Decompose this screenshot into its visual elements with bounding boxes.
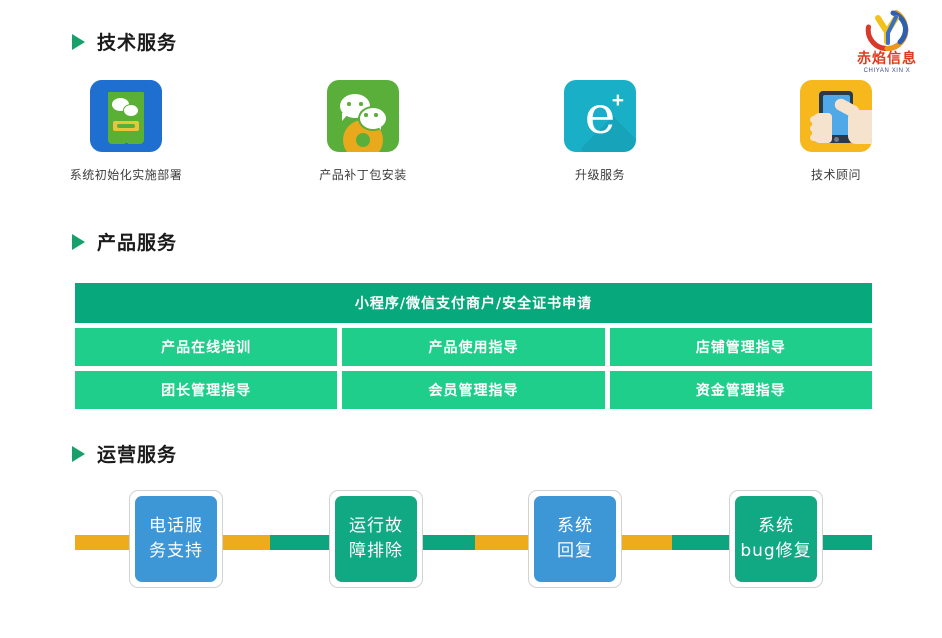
brand-name-cn: 赤焰信息: [844, 52, 930, 66]
flow-node-line1-0: 电话服: [149, 516, 203, 536]
tech-service-label-3: 技术顾问: [766, 166, 906, 183]
table-row: 团长管理指导 会员管理指导 资金管理指导: [75, 371, 872, 409]
section-title-ops: 运营服务: [97, 440, 177, 467]
flow-node-3[interactable]: 系统 bug修复: [729, 490, 823, 588]
wechat-gear-patch-icon: [327, 80, 399, 152]
table-cell[interactable]: 会员管理指导: [342, 371, 604, 409]
tech-service-label-0: 系统初始化实施部署: [56, 166, 196, 183]
tech-service-item-0[interactable]: 系统初始化实施部署: [56, 80, 196, 183]
tech-service-item-2[interactable]: e + 升级服务: [530, 80, 670, 183]
flow-node-body-0: 电话服 务支持: [135, 496, 217, 582]
section-heading-product: 产品服务: [72, 228, 177, 255]
section-title-tech: 技术服务: [97, 28, 177, 55]
table-cell[interactable]: 团长管理指导: [75, 371, 337, 409]
e-plus-upgrade-icon: e +: [564, 80, 636, 152]
tech-service-item-3[interactable]: 技术顾问: [766, 80, 906, 183]
flow-node-line2-0: 务支持: [149, 541, 203, 561]
flow-node-2[interactable]: 系统 回复: [528, 490, 622, 588]
flow-node-body-2: 系统 回复: [534, 496, 616, 582]
section-title-product: 产品服务: [97, 228, 177, 255]
flow-node-line1-3: 系统: [758, 516, 794, 536]
section-heading-ops: 运营服务: [72, 440, 177, 467]
flow-node-0[interactable]: 电话服 务支持: [129, 490, 223, 588]
flow-node-line2-2: 回复: [557, 541, 593, 561]
flow-node-line1-1: 运行故: [349, 516, 403, 536]
flow-node-body-1: 运行故 障排除: [335, 496, 417, 582]
triangle-right-icon: [72, 234, 85, 250]
tech-service-icon-row: 系统初始化实施部署 产品补丁包安装 e + 升级服务: [0, 80, 942, 195]
table-cell[interactable]: 资金管理指导: [610, 371, 872, 409]
flow-node-line1-2: 系统: [557, 516, 593, 536]
flow-node-line2-3: bug修复: [740, 541, 811, 561]
flow-node-line2-1: 障排除: [349, 541, 403, 561]
product-service-table: 小程序/微信支付商户/安全证书申请 产品在线培训 产品使用指导 店铺管理指导 团…: [75, 283, 872, 409]
brand-name-en: CHIYAN XIN X: [844, 68, 930, 74]
section-heading-tech: 技术服务: [72, 28, 177, 55]
tech-service-label-1: 产品补丁包安装: [293, 166, 433, 183]
flow-node-body-3: 系统 bug修复: [735, 496, 817, 582]
table-cell[interactable]: 产品在线培训: [75, 328, 337, 366]
product-service-table-header: 小程序/微信支付商户/安全证书申请: [75, 283, 872, 323]
table-cell[interactable]: 产品使用指导: [342, 328, 604, 366]
triangle-right-icon: [72, 446, 85, 462]
ops-service-flow: 电话服 务支持 运行故 障排除 系统 回复 系统 bug修复: [0, 490, 942, 600]
triangle-right-icon: [72, 34, 85, 50]
phone-wechat-deploy-icon: [90, 80, 162, 152]
hand-tablet-advisor-icon: [800, 80, 872, 152]
tech-service-item-1[interactable]: 产品补丁包安装: [293, 80, 433, 183]
table-row: 产品在线培训 产品使用指导 店铺管理指导: [75, 328, 872, 366]
table-cell[interactable]: 店铺管理指导: [610, 328, 872, 366]
flow-node-1[interactable]: 运行故 障排除: [329, 490, 423, 588]
tech-service-label-2: 升级服务: [530, 166, 670, 183]
chiyan-circle-logo-icon: [863, 6, 911, 54]
brand-logo: 赤焰信息 CHIYAN XIN X: [844, 6, 930, 74]
